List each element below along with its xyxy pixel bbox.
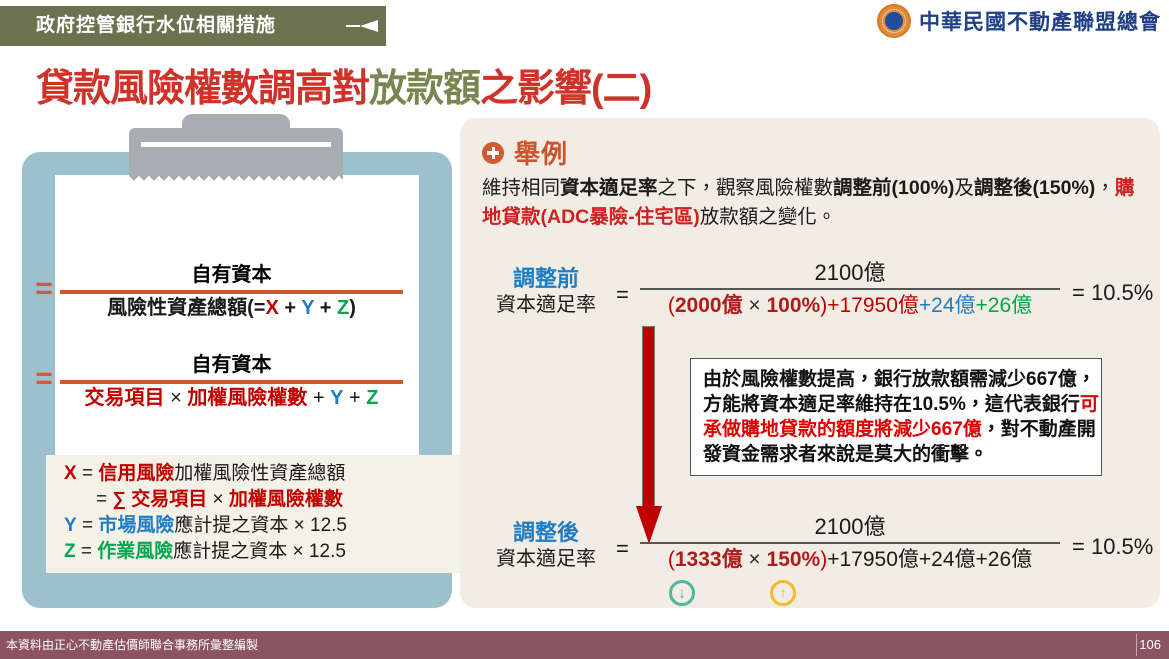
after-result: = 10.5% [1072,534,1153,560]
before-label-line1: 調整前 [480,266,612,292]
before-den-market: +24億 [919,294,976,317]
before-denominator: (2000億 × 100%)+17950億+24億+26億 [640,290,1060,322]
before-label: 調整前 資本適足率 [480,266,612,319]
page-title-part2: 放款額 [369,68,480,110]
formula2-bar [60,380,403,384]
page-title: 貸款風險權數調高對放款額之影響(二) [36,57,651,112]
section-tab-banner: 政府控管銀行水位相關措施 [0,6,386,46]
after-label-line1: 調整後 [480,520,612,546]
org-logo: 中華民國不動產聯盟總會 [877,4,1161,38]
before-den-capital: 2000億 [675,294,743,317]
callout-line3-red: 承做購地貸款的額度將減少667億 [703,419,982,440]
legend-x2-sigma: ∑ [112,489,126,510]
footer-text: 本資料由正心不動產估價師聯合事務所彙整編製 [6,631,258,659]
footer-bar: 本資料由正心不動產估價師聯合事務所彙整編製 106 [0,631,1169,659]
formula2-denominator: 交易項目 × 加權風險權數 + Y + Z [60,386,403,410]
org-logo-label: 中華民國不動產聯盟總會 [919,6,1161,36]
legend-x-var: X [64,463,77,484]
formula2-numerator: 自有資本 [60,348,403,378]
example-title: 舉例 [514,134,568,171]
callout-line2-text: 方能將資本適足率維持在10.5%，這代表銀行 [703,394,1080,415]
plus-circle-icon [482,142,504,164]
before-label-line2: 資本適足率 [480,292,612,319]
callout-line-4: 發資金需求者來說是莫大的衝擊。 [703,442,1091,467]
after-numerator: 2100億 [640,512,1060,542]
legend-y-highlight: 市場風險 [98,515,174,536]
callout-line-1: 由於風險權數提高，銀行放款額需減少667億， [703,367,1091,392]
formula2-equals: = [28,364,60,394]
arrow-up-circle-icon: ↑ [770,580,796,606]
before-equals: = [616,282,629,308]
example-description: 維持相同資本適足率之下，觀察風險權數調整前(100%)及調整後(150%)，購地… [482,174,1146,232]
tab-arrow-line [346,25,360,27]
before-fraction: 2100億 (2000億 × 100%)+17950億+24億+26億 [640,258,1060,322]
after-den-rest: +17950億+24億+26億 [827,548,1032,571]
legend-y-rest: 應計提之資本 × 12.5 [174,515,347,536]
legend-x2-eq: = [96,489,112,510]
clipboard-clamp [129,128,343,175]
before-den-weight: 100% [767,294,821,317]
arrow-shaft [642,326,655,508]
legend-x2-item: 交易項目 [126,489,207,510]
desc-seg9: 放款額之變化。 [700,206,837,228]
after-denominator: (1333億 × 150%)+17950億+24億+26億 [640,544,1060,576]
desc-seg6: 調整後(150%) [974,177,1095,199]
formula1-den-y: Y [301,297,314,319]
after-den-capital: 1333億 [675,548,743,571]
formula1-den-plus2: + [314,297,337,319]
footer-page-number: 106 [1139,631,1161,659]
formula1-numerator: 自有資本 [60,258,403,288]
formula-row-after: 調整後 資本適足率 = 2100億 (1333億 × 150%)+17950億+… [480,512,1152,584]
desc-seg1: 維持相同 [482,177,560,199]
page-title-part3: 之影響(二) [480,68,651,110]
formula2-den-plus1: + [307,387,330,409]
formula1-denominator: 風險性資產總額(=X + Y + Z) [60,296,403,320]
callout-line2-red: 可 [1080,394,1099,415]
formula1-den-x: X [265,297,278,319]
formula2-fraction: 自有資本 交易項目 × 加權風險權數 + Y + Z [60,348,403,410]
legend-y-var: Y [64,515,77,536]
callout-line-2: 方能將資本適足率維持在10.5%，這代表銀行可 [703,392,1091,417]
after-den-times: × [743,548,767,571]
legend-x2-weight: 加權風險權數 [229,489,343,510]
desc-seg7: ， [1095,177,1115,199]
formula1-fraction: 自有資本 風險性資產總額(=X + Y + Z) [60,258,403,320]
before-den-times: × [743,294,767,317]
formula1-den-text: 風險性資產總額(= [107,297,265,319]
before-result: = 10.5% [1072,280,1153,306]
desc-seg4: 調整前(100%) [833,177,954,199]
formula2-den-y: Y [330,387,343,409]
footer-divider [1136,634,1137,656]
before-numerator: 2100億 [640,258,1060,288]
tab-arrow-icon [360,20,378,32]
legend-z-var: Z [64,541,76,562]
legend-z-rest: 應計提之資本 × 12.5 [173,541,346,562]
desc-seg5: 及 [954,177,974,199]
formula2-den-weight: 加權風險權數 [187,387,307,409]
legend-x-highlight: 信用風險 [98,463,174,484]
capital-ratio-formula-2: = 自有資本 交易項目 × 加權風險權數 + Y + Z [28,348,403,410]
clipboard-clamp-zigzag [129,175,343,182]
section-tab-label: 政府控管銀行水位相關措施 [36,6,276,46]
seal-icon [877,4,911,38]
after-fraction: 2100億 (1333億 × 150%)+17950億+24億+26億 [640,512,1060,576]
desc-seg3: 之下，觀察風險權數 [658,177,834,199]
callout-line3-text: ，對不動產開 [982,419,1096,440]
seal-ring [882,9,906,33]
legend-y-eq: = [77,515,99,536]
formula2-den-plus2: + [343,387,366,409]
callout-line-3: 承做購地貸款的額度將減少667億，對不動產開 [703,417,1091,442]
before-den-rwa: +17950億 [827,294,919,317]
example-header: 舉例 [482,134,568,171]
formula1-den-z: Z [337,297,349,319]
after-den-weight: 150% [767,548,821,571]
formula-row-before: 調整前 資本適足率 = 2100億 (2000億 × 100%)+17950億+… [480,258,1152,330]
capital-ratio-formula-1: = 自有資本 風險性資產總額(=X + Y + Z) [28,258,403,320]
formula2-den-z: Z [366,387,378,409]
formula1-bar [60,290,403,294]
legend-x-eq: = [77,463,99,484]
formula1-equals: = [28,274,60,304]
page-title-part1: 貸款風險權數調高對 [36,68,369,110]
formula1-den-close: ) [349,297,356,319]
explanation-callout: 由於風險權數提高，銀行放款額需減少667億， 方能將資本適足率維持在10.5%，… [690,358,1102,476]
legend-x2-times: × [207,489,229,510]
before-den-operational: +26億 [976,294,1033,317]
legend-x-rest: 加權風險性資產總額 [174,463,345,484]
legend-z-eq: = [76,541,98,562]
legend-z-highlight: 作業風險 [97,541,173,562]
formula1-den-plus1: + [279,297,301,319]
formula2-den-item: 交易項目 [85,387,165,409]
after-label-line2: 資本適足率 [480,546,612,573]
slide-root: 政府控管銀行水位相關措施 中華民國不動產聯盟總會 貸款風險權數調高對放款額之影響… [0,0,1169,659]
desc-seg2: 資本適足率 [560,177,658,199]
arrow-down-circle-icon: ↓ [669,580,695,606]
after-equals: = [616,536,629,562]
after-den-open: ( [668,548,675,571]
before-den-open: ( [668,294,675,317]
after-label: 調整後 資本適足率 [480,520,612,573]
formula2-den-times: × [165,387,188,409]
clipboard-clamp-line [141,142,331,147]
